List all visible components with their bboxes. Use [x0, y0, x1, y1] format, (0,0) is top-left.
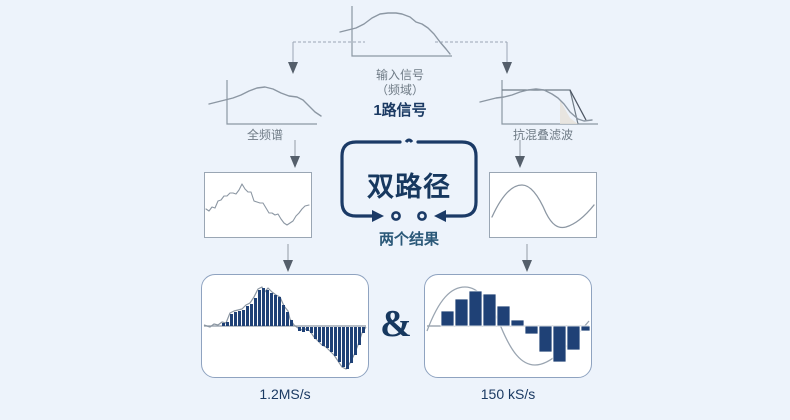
arrow-down-left-1 [288, 140, 302, 170]
full-spectrum-chart [205, 78, 325, 132]
filtered-sine-panel [489, 172, 597, 238]
anti-alias-filter-caption: 抗混叠滤波 [480, 128, 606, 143]
full-spectrum-caption: 全频谱 [210, 128, 320, 143]
diagram-canvas: 输入信号 （频域） 1路信号 全频谱 抗混叠滤波 [0, 0, 790, 420]
low-rate-sampling-panel [424, 274, 592, 378]
arrow-down-left-2 [281, 244, 295, 274]
arrow-down-right-1 [513, 140, 527, 170]
wideband-waveform-panel [204, 172, 312, 238]
two-results-label: 两个结果 [356, 232, 462, 247]
one-channel-label: 1路信号 [345, 103, 455, 118]
high-rate-sampling-panel [201, 274, 369, 378]
anti-alias-filter-chart [478, 78, 608, 132]
input-signal-caption-line2: （频域） [350, 83, 450, 98]
high-rate-label: 1.2MS/s [201, 386, 369, 402]
ampersand-conjunction: & [379, 305, 413, 343]
arrow-down-right-2 [520, 244, 534, 274]
low-rate-label: 150 kS/s [424, 386, 592, 402]
dual-path-label: 双路径 [336, 165, 482, 204]
top-splitter-connector [285, 36, 515, 78]
